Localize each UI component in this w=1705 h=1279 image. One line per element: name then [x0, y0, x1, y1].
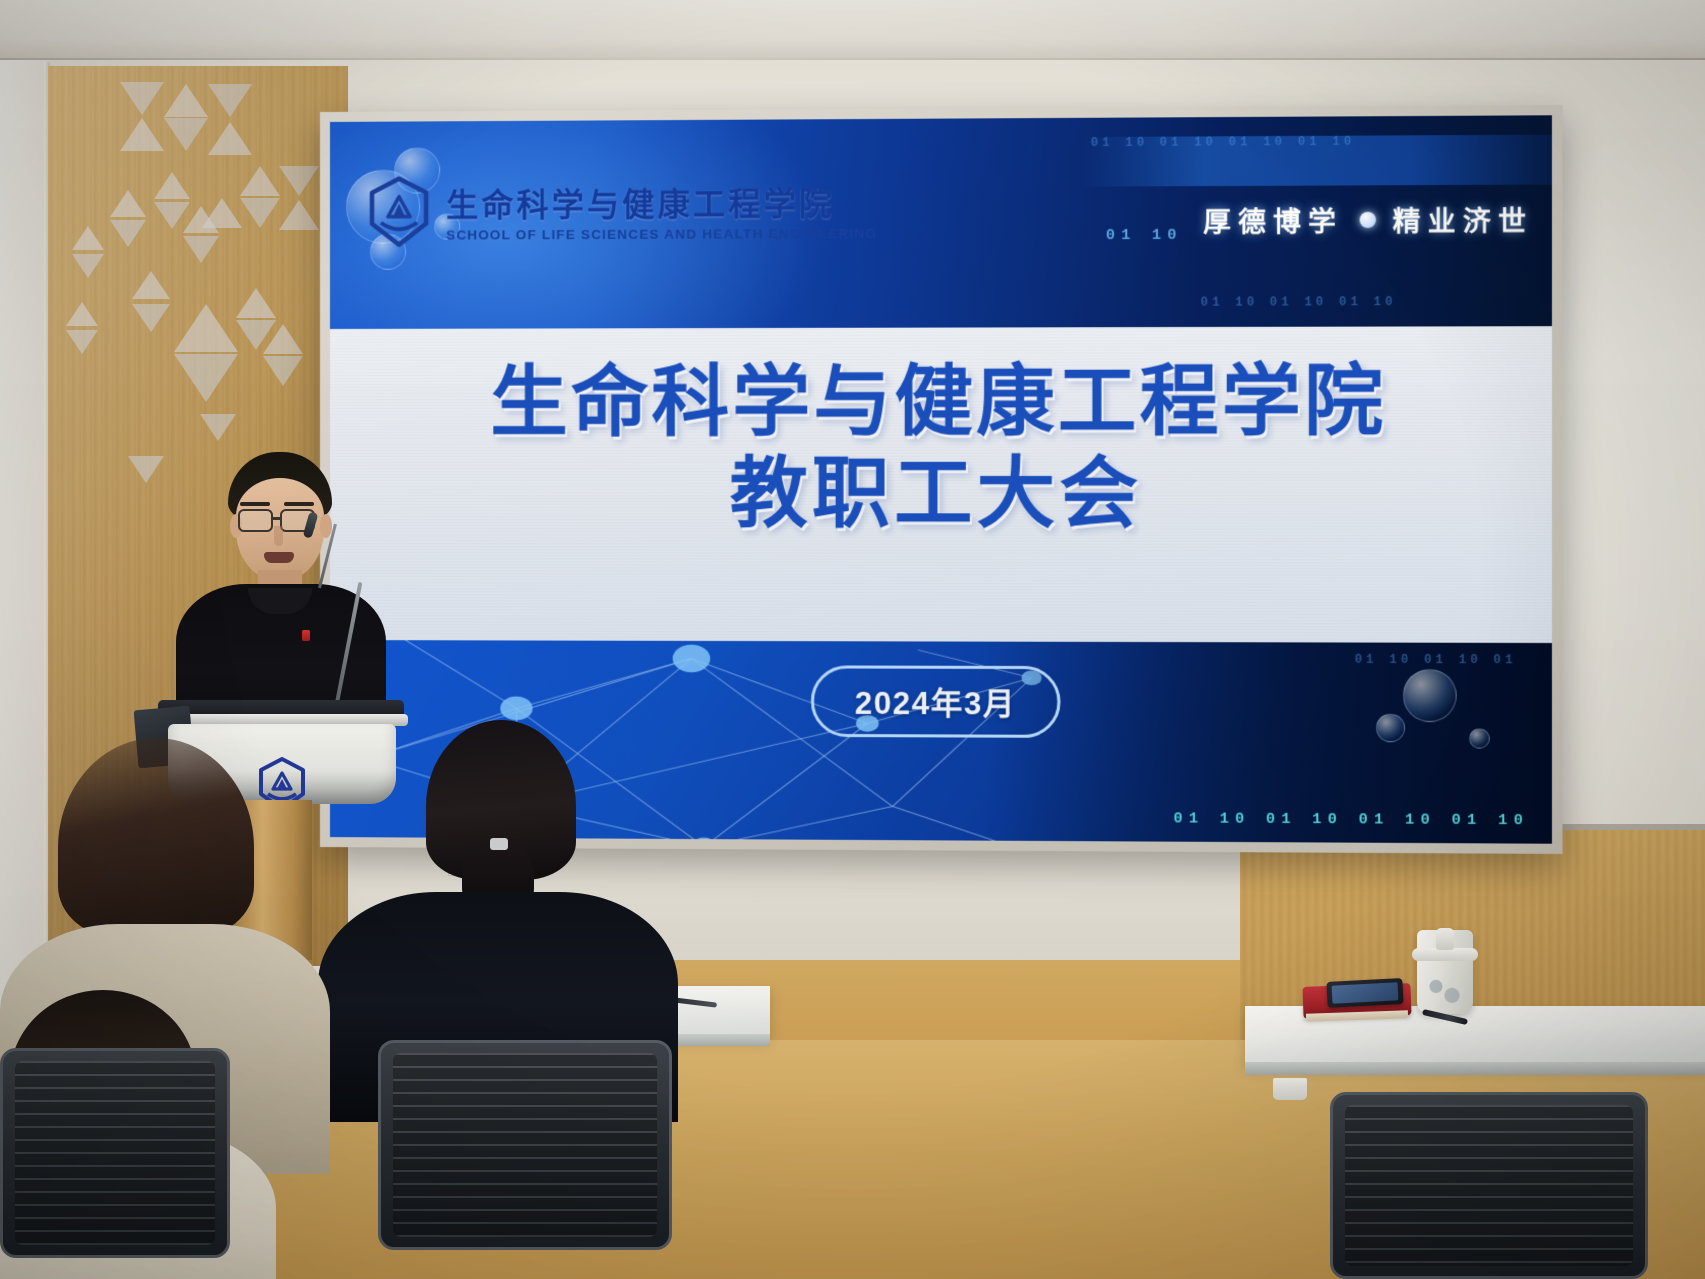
- chair-center: [360, 1040, 690, 1279]
- chair-mesh: [393, 1053, 657, 1237]
- chair-left: [0, 1034, 250, 1279]
- triangle-cutout-icon: [236, 288, 276, 318]
- presenter-brow-right: [284, 502, 314, 506]
- triangle-cutout-icon: [240, 198, 280, 228]
- tea-cup-knob: [1436, 928, 1454, 950]
- triangle-cutout-icon: [263, 356, 303, 386]
- title-line-1: 生命科学与健康工程学院: [330, 358, 1552, 448]
- triangle-cutout-icon: [208, 84, 252, 117]
- lapel-pin-icon: [302, 630, 310, 641]
- tea-cup-pattern: [1424, 972, 1464, 1008]
- triangle-cutout-icon: [66, 330, 98, 354]
- motto-left-text: 厚德博学: [1203, 200, 1343, 240]
- bubble-decor-icon: [1469, 729, 1490, 749]
- slide-brand-lockup: 生命科学与健康工程学院 SCHOOL OF LIFE SCIENCES AND …: [366, 173, 877, 247]
- brand-text: 生命科学与健康工程学院 SCHOOL OF LIFE SCIENCES AND …: [446, 178, 877, 242]
- triangle-cutout-icon: [174, 354, 238, 402]
- presenter-brow-left: [240, 502, 270, 506]
- brand-title-cn: 生命科学与健康工程学院: [446, 178, 877, 226]
- glasses-bridge: [272, 517, 282, 520]
- triangle-cutout-icon: [240, 166, 280, 196]
- presenter-nose: [274, 526, 283, 546]
- school-emblem-icon: [366, 175, 432, 247]
- triangle-cutout-icon: [120, 118, 164, 151]
- binary-decor-d: 01 10 01 10 01 10 01 10: [1173, 810, 1529, 829]
- brand-title-en: SCHOOL OF LIFE SCIENCES AND HEALTH ENGIN…: [446, 225, 877, 242]
- triangle-cutout-icon: [110, 220, 146, 247]
- slide-title-band: 生命科学与健康工程学院 教职工大会: [330, 327, 1552, 644]
- chair-backrest: [378, 1040, 672, 1250]
- motto-right-text: 精业济世: [1393, 199, 1534, 239]
- presentation-room-scene: 01 10 01 10 01 10 01 10 01 10 01 10 01 1…: [0, 0, 1705, 1279]
- triangle-cutout-icon: [174, 304, 238, 352]
- triangle-cutout-icon: [72, 226, 104, 250]
- binary-decor-b: 01 10: [1106, 227, 1183, 244]
- triangle-cutout-icon: [66, 302, 98, 326]
- audience-head: [58, 738, 254, 938]
- triangle-cutout-icon: [236, 320, 276, 350]
- triangle-cutout-icon: [164, 118, 208, 151]
- audience-desk-right-edge: [1245, 1062, 1705, 1075]
- triangle-cutout-icon: [263, 324, 303, 354]
- triangle-cutout-icon: [154, 202, 190, 229]
- paper-cup: [1273, 1078, 1307, 1100]
- triangle-cutout-icon: [208, 122, 252, 155]
- triangle-cutout-icon: [132, 304, 170, 332]
- triangle-cutout-icon: [279, 200, 319, 230]
- chair-backrest: [0, 1048, 230, 1258]
- triangle-cutout-icon: [132, 271, 170, 299]
- binary-decor-c: 01 10 01 10 01 10: [1201, 295, 1397, 310]
- triangle-cutout-icon: [72, 254, 104, 278]
- triangle-cutout-icon: [110, 190, 146, 217]
- chair-right: [1330, 1092, 1660, 1279]
- smartphone: [1326, 978, 1403, 1008]
- glasses-icon: [238, 509, 273, 532]
- slide-main-title: 生命科学与健康工程学院 教职工大会: [330, 358, 1552, 542]
- triangle-cutout-icon: [279, 166, 319, 196]
- bubble-decor-icon: [1403, 669, 1457, 722]
- hair-clip-icon: [490, 838, 508, 850]
- title-line-2: 教职工大会: [330, 448, 1552, 542]
- triangle-cutout-icon: [202, 198, 242, 228]
- triangle-cutout-icon: [154, 172, 190, 199]
- chair-mesh: [15, 1061, 215, 1245]
- chair-mesh: [1345, 1105, 1633, 1266]
- ceiling: [0, 0, 1705, 66]
- triangle-cutout-icon: [128, 456, 164, 483]
- triangle-cutout-icon: [183, 206, 219, 233]
- triangle-cutout-icon: [183, 236, 219, 263]
- triangle-cutout-icon: [200, 414, 236, 441]
- dot-separator-icon: [1360, 211, 1377, 227]
- triangle-cutout-icon: [120, 82, 164, 115]
- date-badge: 2024年3月: [811, 665, 1060, 738]
- chair-backrest: [1330, 1092, 1648, 1279]
- presenter-mouth: [264, 552, 294, 563]
- binary-decor-e: 01 10 01 10 01: [1355, 653, 1517, 668]
- slide-motto: 厚德博学 精业济世: [1203, 199, 1533, 240]
- bubble-decor-icon: [1376, 714, 1405, 743]
- binary-decor-a: 01 10 01 10 01 10 01 10: [1091, 135, 1356, 151]
- triangle-cutout-icon: [164, 84, 208, 117]
